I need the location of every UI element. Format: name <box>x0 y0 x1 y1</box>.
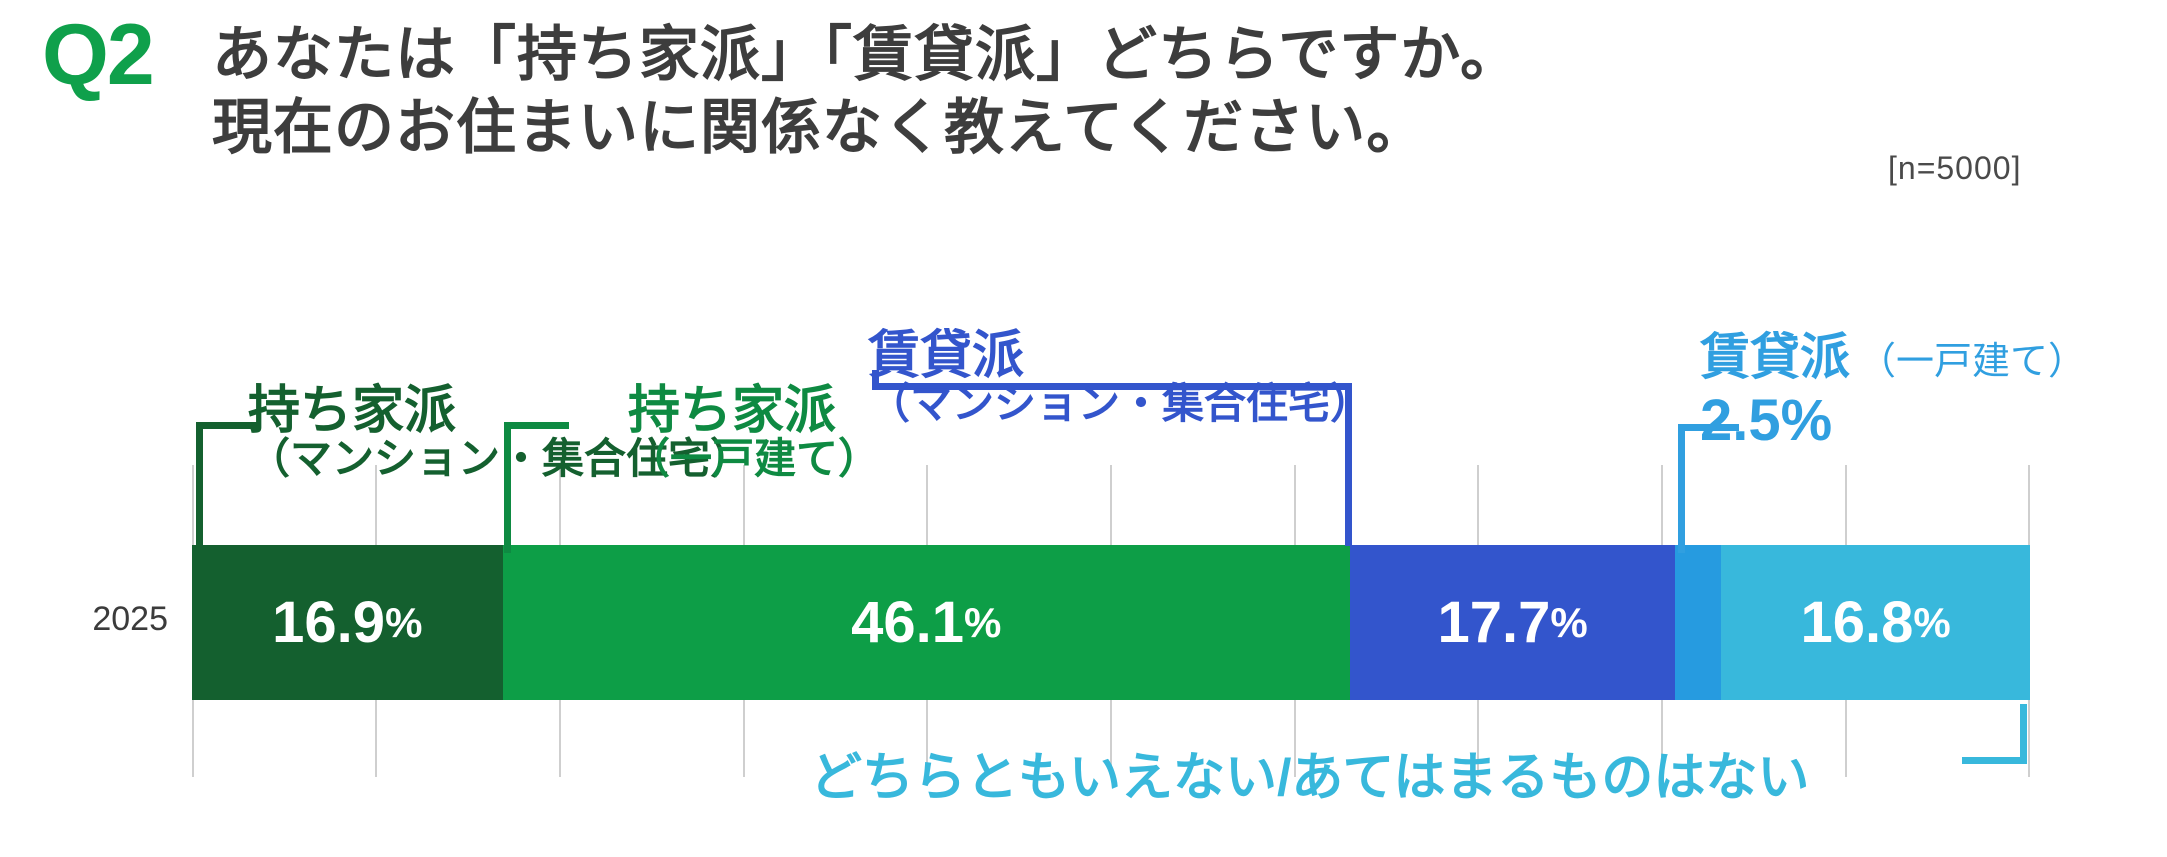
callout-rent-house-paren: （一戸建て） <box>1858 330 2086 385</box>
callout-rent-house: 賃貸派 （一戸建て） 2.5% <box>1700 330 2086 454</box>
bar-segment-rent-mansion[interactable]: 17.7% <box>1350 545 1675 700</box>
segment-value-owner-house: 46.1 <box>851 589 964 656</box>
callout-rent-house-value: 2.5% <box>1700 387 2086 454</box>
segment-value-rent-mansion: 17.7 <box>1437 589 1550 656</box>
bar-segment-rent-house[interactable]: 2.5% <box>1675 545 1721 700</box>
bar-segment-owner-house[interactable]: 46.1% <box>503 545 1350 700</box>
segment-value-neither: 16.8 <box>1800 589 1913 656</box>
percent-sign: % <box>964 599 1001 647</box>
axis-year-label: 2025 <box>48 600 168 639</box>
leader-line-neither-horizontal <box>1962 757 2027 764</box>
leader-line-neither-vertical <box>2020 704 2027 764</box>
percent-sign: % <box>1913 599 1950 647</box>
chart-canvas: Q2 あなたは「持ち家派」「賃貸派」どちらですか。 現在のお住まいに関係なく教え… <box>0 0 2167 857</box>
stacked-bar: 16.9% 46.1% 17.7% 2.5% 16.8% <box>192 545 2030 700</box>
callout-rent-house-line1: 賃貸派 <box>1700 332 1850 383</box>
bar-segment-owner-mansion[interactable]: 16.9% <box>192 545 503 700</box>
segment-value-owner-mansion: 16.9 <box>272 589 385 656</box>
callout-rent-mansion: 賃貸派 （マンション・集合住宅） <box>868 330 1372 426</box>
percent-sign: % <box>385 599 422 647</box>
callout-owner-house-line1: 持ち家派 <box>628 385 880 438</box>
callout-owner-house-line2: （一戸建て） <box>628 438 880 481</box>
callout-rent-mansion-line1: 賃貸派 <box>868 330 1372 383</box>
plot-area: 2025 16.9% 46.1% 17.7% 2.5% 16.8% <box>0 0 2167 857</box>
callout-neither: どちらともいえない/あてはまるものはない <box>810 735 1809 810</box>
callout-rent-mansion-line2: （マンション・集合住宅） <box>868 383 1372 426</box>
callout-owner-house: 持ち家派 （一戸建て） <box>628 385 880 481</box>
bar-segment-neither[interactable]: 16.8% <box>1721 545 2030 700</box>
percent-sign: % <box>1550 599 1587 647</box>
